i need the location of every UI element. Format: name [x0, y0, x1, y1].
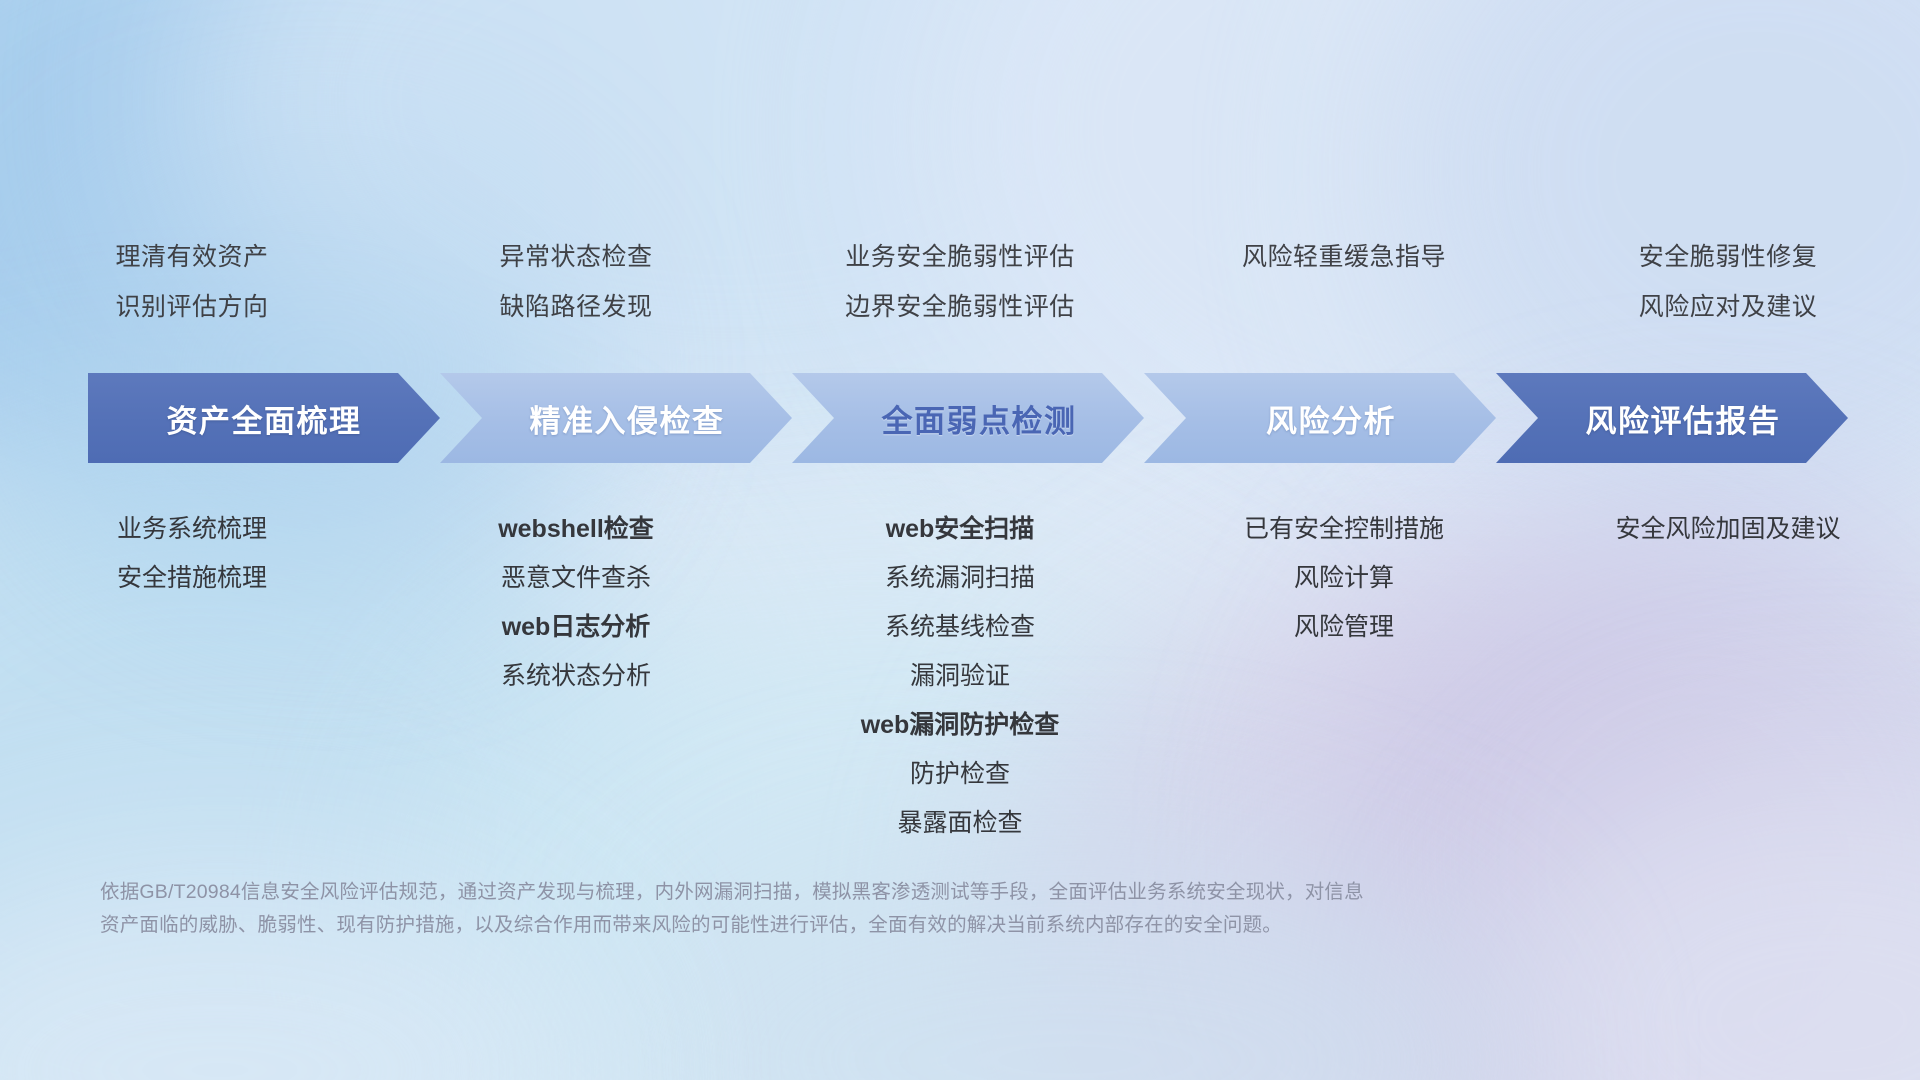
stage-3-bottom-item: web漏洞防护检查 [861, 701, 1060, 750]
stage-4-top-group: 风险轻重缓急指导 [1152, 232, 1536, 332]
stage-3-bottom-item: 暴露面检查 [897, 799, 1022, 848]
stage-3-top-group: 业务安全脆弱性评估边界安全脆弱性评估 [768, 232, 1152, 332]
stage-2-bottom-item: web日志分析 [502, 603, 651, 652]
stage-2-bottom-item: 系统状态分析 [501, 652, 651, 701]
stage-3-bottom-item: 防护检查 [910, 750, 1010, 799]
stage-5-bottom-item: 安全风险加固及建议 [1615, 505, 1840, 554]
stage-1-top-item: 理清有效资产 [115, 232, 268, 282]
stage-4-top-item: 风险轻重缓急指导 [1242, 232, 1446, 282]
stage-1-bottom-item: 业务系统梳理 [117, 505, 267, 554]
stage-4-bottom-item: 风险计算 [1294, 554, 1394, 603]
stage-top-captions: 理清有效资产识别评估方向异常状态检查缺陷路径发现业务安全脆弱性评估边界安全脆弱性… [0, 232, 1920, 332]
stage-5-top-item: 安全脆弱性修复 [1639, 232, 1818, 282]
stage-3-title: 全面弱点检测 [882, 396, 1077, 441]
stage-3-bottom-item: 漏洞验证 [910, 652, 1010, 701]
stage-3-arrow[interactable]: 全面弱点检测 [792, 373, 1144, 463]
stage-4-bottom-item: 已有安全控制措施 [1244, 505, 1444, 554]
stage-3-bottom-item: 系统基线检查 [885, 603, 1035, 652]
stage-2-top-item: 异常状态检查 [499, 232, 652, 282]
stage-4-bottom-group: 已有安全控制措施风险计算风险管理 [1152, 505, 1536, 652]
stage-3-bottom-group: web安全扫描系统漏洞扫描系统基线检查漏洞验证web漏洞防护检查防护检查暴露面检… [768, 505, 1152, 848]
stage-5-top-group: 安全脆弱性修复风险应对及建议 [1536, 232, 1920, 332]
stage-3-top-item: 边界安全脆弱性评估 [845, 282, 1075, 332]
stage-1-bottom-item: 安全措施梳理 [117, 554, 267, 603]
stage-1-top-group: 理清有效资产识别评估方向 [0, 232, 384, 332]
stage-1-title: 资产全面梳理 [167, 396, 362, 441]
footer-description: 依据GB/T20984信息安全风险评估规范，通过资产发现与梳理，内外网漏洞扫描，… [100, 876, 1640, 942]
stage-2-bottom-item: webshell检查 [498, 505, 654, 554]
footer-line-1: 依据GB/T20984信息安全风险评估规范，通过资产发现与梳理，内外网漏洞扫描，… [100, 876, 1640, 909]
stage-3-top-item: 业务安全脆弱性评估 [845, 232, 1075, 282]
stage-1-arrow[interactable]: 资产全面梳理 [88, 373, 440, 463]
stage-5-arrow[interactable]: 风险评估报告 [1496, 373, 1848, 463]
stage-5-top-item: 风险应对及建议 [1639, 282, 1818, 332]
stage-2-top-group: 异常状态检查缺陷路径发现 [384, 232, 768, 332]
stage-5-bottom-group: 安全风险加固及建议 [1536, 505, 1920, 554]
stage-3-bottom-item: 系统漏洞扫描 [885, 554, 1035, 603]
stage-3-bottom-item: web安全扫描 [886, 505, 1035, 554]
stage-2-arrow[interactable]: 精准入侵检查 [440, 373, 792, 463]
stage-2-title: 精准入侵检查 [530, 396, 725, 441]
stage-1-top-item: 识别评估方向 [115, 282, 268, 332]
stage-4-title: 风险分析 [1266, 396, 1396, 441]
footer-line-2: 资产面临的威胁、脆弱性、现有防护措施，以及综合作用而带来风险的可能性进行评估，全… [100, 909, 1640, 942]
stage-2-bottom-item: 恶意文件查杀 [501, 554, 651, 603]
stage-bottom-lists: 业务系统梳理安全措施梳理webshell检查恶意文件查杀web日志分析系统状态分… [0, 505, 1920, 848]
process-arrow-band: 资产全面梳理精准入侵检查全面弱点检测风险分析风险评估报告 [88, 373, 1848, 463]
stage-4-bottom-item: 风险管理 [1294, 603, 1394, 652]
stage-1-bottom-group: 业务系统梳理安全措施梳理 [0, 505, 384, 603]
stage-2-top-item: 缺陷路径发现 [499, 282, 652, 332]
stage-2-bottom-group: webshell检查恶意文件查杀web日志分析系统状态分析 [384, 505, 768, 701]
stage-4-arrow[interactable]: 风险分析 [1144, 373, 1496, 463]
stage-5-title: 风险评估报告 [1586, 396, 1781, 441]
